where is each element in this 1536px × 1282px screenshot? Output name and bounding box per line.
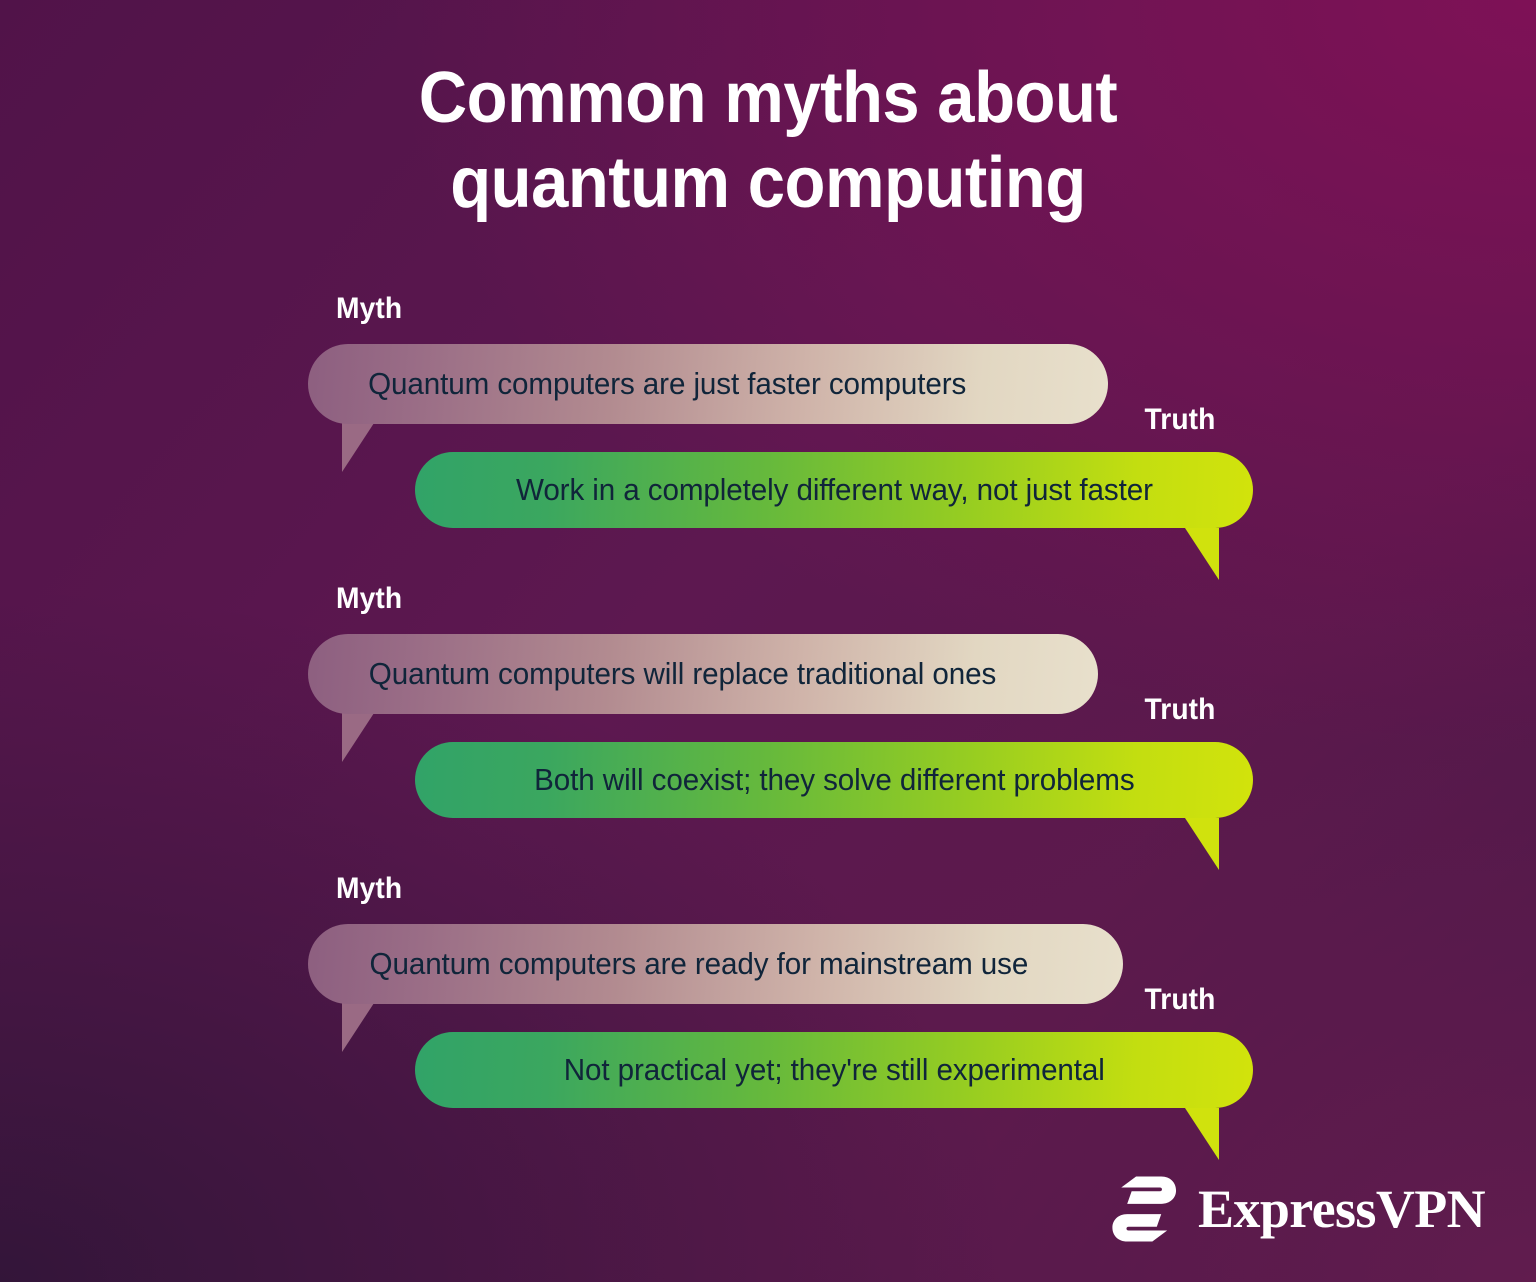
truth-bubble-2: Both will coexist; they solve different … bbox=[415, 742, 1253, 818]
expressvpn-e-logo-icon bbox=[1105, 1172, 1179, 1246]
myth-text-1: Quantum computers are just faster comput… bbox=[368, 366, 966, 402]
truth-text-2: Both will coexist; they solve different … bbox=[534, 762, 1134, 798]
myth-text-3: Quantum computers are ready for mainstre… bbox=[370, 946, 1029, 982]
truth-label-2: Truth bbox=[1145, 693, 1216, 727]
myth-truth-pair-3: Myth Quantum computers are ready for mai… bbox=[0, 872, 1536, 1172]
myth-bubble-tail-1 bbox=[342, 420, 376, 472]
myth-bubble-1: Quantum computers are just faster comput… bbox=[308, 344, 1108, 424]
truth-bubble-1: Work in a completely different way, not … bbox=[415, 452, 1253, 528]
truth-label-1: Truth bbox=[1145, 403, 1216, 437]
myth-label-3: Myth bbox=[336, 872, 402, 906]
myth-bubble-tail-3 bbox=[342, 1000, 376, 1052]
truth-bubble-3: Not practical yet; they're still experim… bbox=[415, 1032, 1253, 1108]
myth-text-2: Quantum computers will replace tradition… bbox=[369, 656, 996, 692]
myth-truth-pair-2: Myth Quantum computers will replace trad… bbox=[0, 582, 1536, 882]
myth-truth-pair-1: Myth Quantum computers are just faster c… bbox=[0, 292, 1536, 592]
infographic-stage: Common myths about quantum computing Myt… bbox=[0, 0, 1536, 1282]
truth-bubble-tail-3 bbox=[1185, 1108, 1219, 1160]
truth-text-1: Work in a completely different way, not … bbox=[516, 472, 1153, 508]
truth-label-3: Truth bbox=[1145, 983, 1216, 1017]
page-title-line-2: quantum computing bbox=[54, 141, 1482, 226]
myth-bubble-tail-2 bbox=[342, 710, 376, 762]
myth-label-2: Myth bbox=[336, 582, 402, 616]
myth-bubble-2: Quantum computers will replace tradition… bbox=[308, 634, 1098, 714]
myth-label-1: Myth bbox=[336, 292, 402, 326]
page-title-line-1: Common myths about bbox=[54, 56, 1482, 141]
truth-bubble-tail-1 bbox=[1185, 528, 1219, 580]
expressvpn-wordmark: ExpressVPN bbox=[1198, 1182, 1485, 1236]
expressvpn-logo: ExpressVPN bbox=[1105, 1172, 1485, 1246]
truth-text-3: Not practical yet; they're still experim… bbox=[563, 1052, 1104, 1088]
truth-bubble-tail-2 bbox=[1185, 818, 1219, 870]
page-title: Common myths about quantum computing bbox=[54, 56, 1482, 226]
myth-bubble-3: Quantum computers are ready for mainstre… bbox=[308, 924, 1123, 1004]
